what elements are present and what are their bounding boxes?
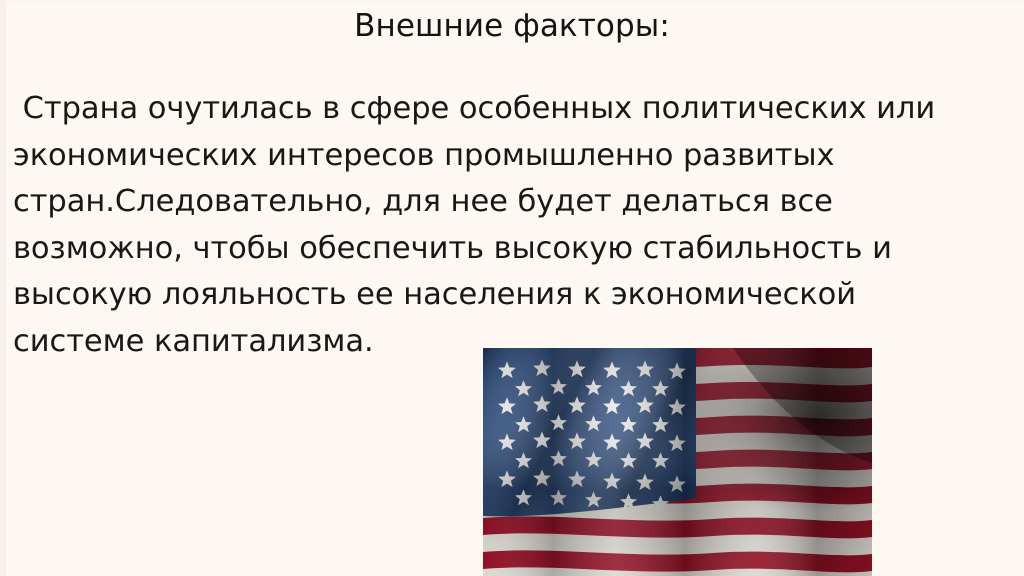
- body-text-line: стран.Следовательно, для нее будет делат…: [13, 179, 963, 226]
- slide-top-edge: [0, 0, 1024, 3]
- body-text-line: экономических интересов промышленно разв…: [13, 133, 963, 180]
- presentation-slide: Внешние факторы: Страна очутилась в сфер…: [0, 0, 1024, 576]
- slide-left-edge: [0, 0, 6, 576]
- body-text-line: Страна очутилась в сфере особенных полит…: [13, 86, 963, 133]
- body-text-line: высокую лояльность ее населения к эконом…: [13, 272, 963, 319]
- page-title: Внешние факторы:: [0, 9, 1024, 43]
- body-text-block: Страна очутилась в сфере особенных полит…: [13, 86, 963, 366]
- usa-flag-photo: [483, 348, 872, 576]
- body-text-line: возможно, чтобы обеспечить высокую стаби…: [13, 226, 963, 273]
- usa-flag-illustration: [483, 348, 872, 576]
